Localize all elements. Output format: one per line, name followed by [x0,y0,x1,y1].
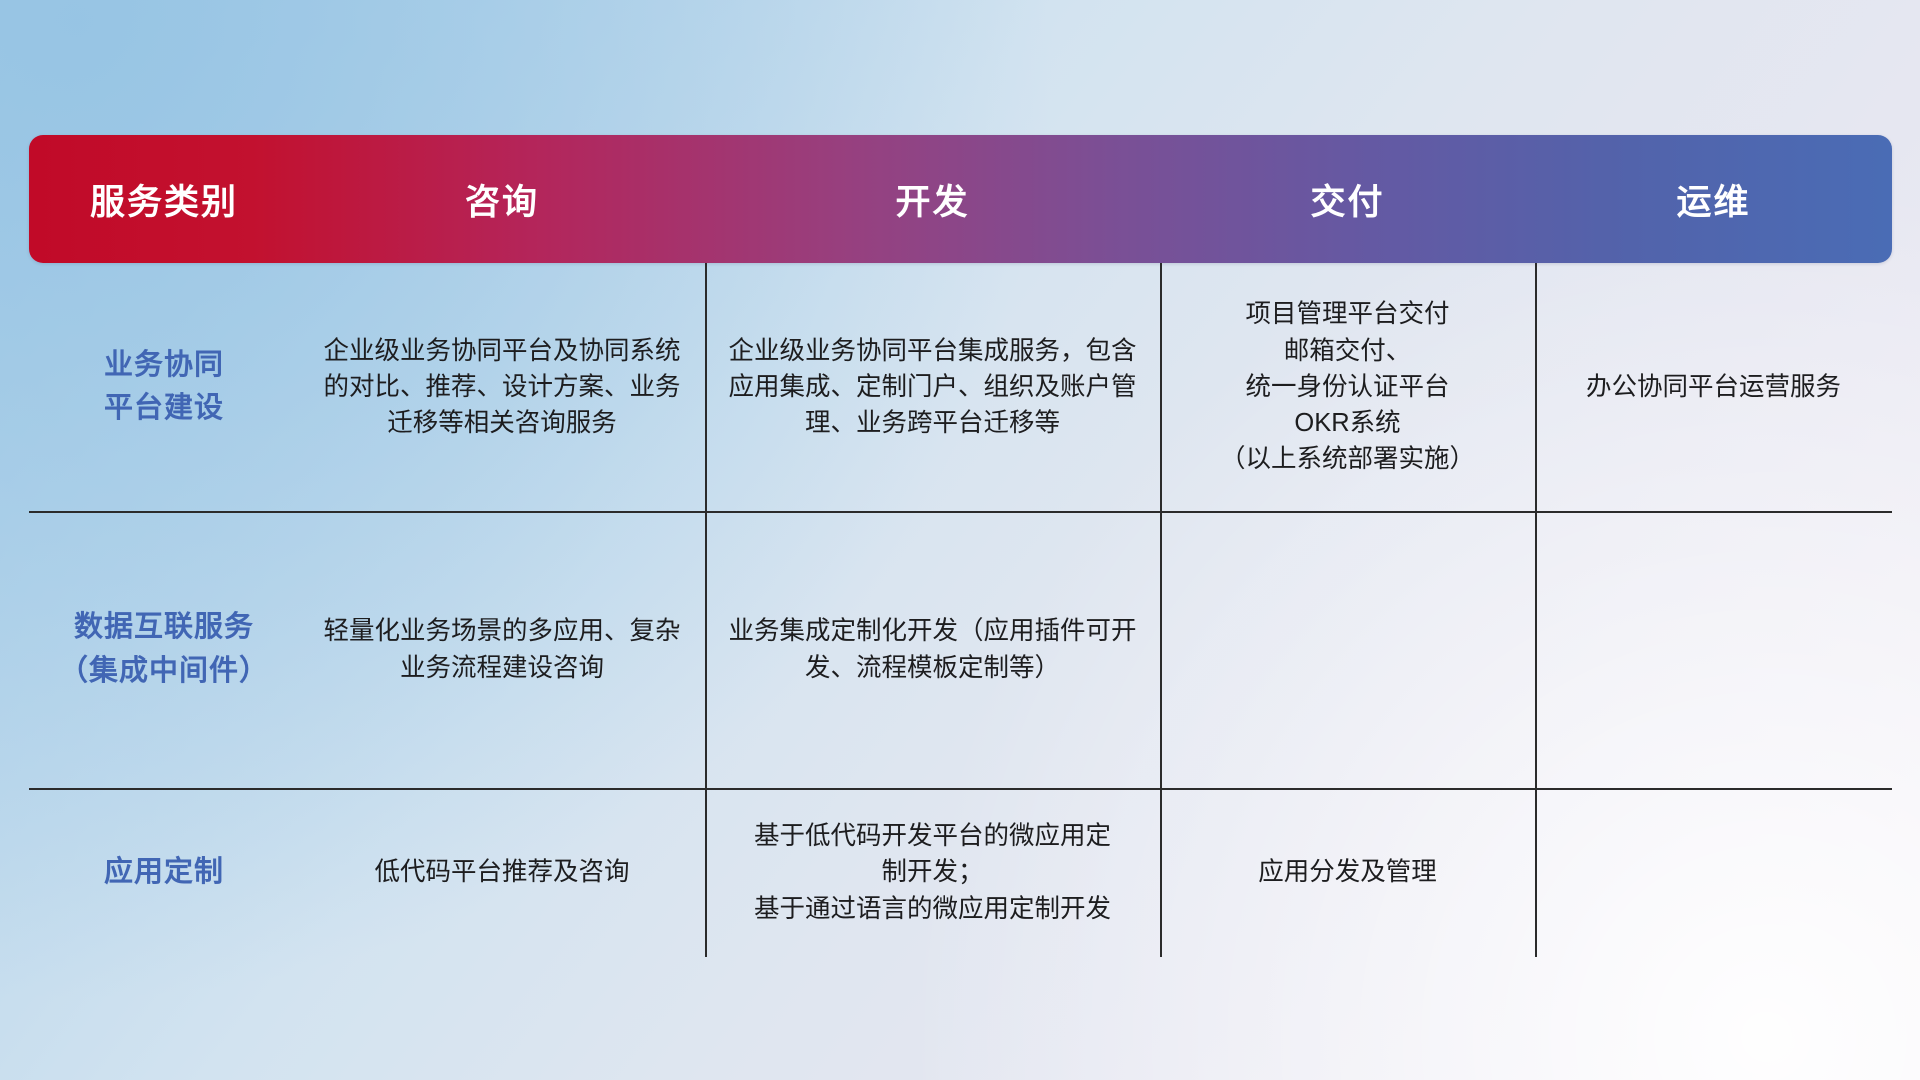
slide-canvas: 服务类别 咨询 开发 交付 运维 业务协同 平台建设 企业级业务协同平台及 [0,0,1920,1080]
cell-operations [1535,788,1892,957]
cell-delivery: 应用分发及管理 [1160,788,1535,957]
table-header-row: 服务类别 咨询 开发 交付 运维 [29,135,1892,263]
column-header-development: 开发 [705,174,1160,225]
table-row: 数据互联服务 （集成中间件） 轻量化业务场景的多应用、复杂业务流程建设咨询 业务… [29,511,1892,788]
cell-delivery-line: 邮箱交付、 [1220,333,1475,369]
cell-development-line: 基于通过语言的微应用定制开发 [754,891,1111,927]
cell-delivery [1160,511,1535,788]
cell-development: 基于低代码开发平台的微应用定 制开发； 基于通过语言的微应用定制开发 [705,788,1160,957]
cell-delivery-line: OKR系统 [1220,405,1475,441]
row-label-data-integration: 数据互联服务 （集成中间件） [29,511,299,788]
cell-development-line: 制开发； [754,854,1111,890]
cell-development: 业务集成定制化开发（应用插件可开发、流程模板定制等） [705,511,1160,788]
table-row: 业务协同 平台建设 企业级业务协同平台及协同系统的对比、推荐、设计方案、业务迁移… [29,263,1892,511]
cell-consulting: 轻量化业务场景的多应用、复杂业务流程建设咨询 [299,511,705,788]
column-header-delivery: 交付 [1160,174,1535,225]
cell-delivery: 项目管理平台交付 邮箱交付、 统一身份认证平台 OKR系统 （以上系统部署实施） [1160,263,1535,511]
cell-delivery-line: （以上系统部署实施） [1220,441,1475,477]
column-header-service-category: 服务类别 [29,174,299,225]
row-label-line: 数据互联服务 [59,606,269,650]
cell-consulting: 企业级业务协同平台及协同系统的对比、推荐、设计方案、业务迁移等相关咨询服务 [299,263,705,511]
row-label-app-customization: 应用定制 [29,788,299,957]
cell-delivery-line: 统一身份认证平台 [1220,369,1475,405]
service-matrix-table: 服务类别 咨询 开发 交付 运维 业务协同 平台建设 企业级业务协同平台及 [29,135,1892,957]
row-label-line: （集成中间件） [59,650,269,694]
cell-consulting: 低代码平台推荐及咨询 [299,788,705,957]
row-label-business-collaboration: 业务协同 平台建设 [29,263,299,511]
column-header-consulting: 咨询 [299,174,705,225]
cell-operations [1535,511,1892,788]
column-header-operations: 运维 [1535,174,1892,225]
cell-operations: 办公协同平台运营服务 [1535,263,1892,511]
row-label-line: 平台建设 [104,387,224,431]
table-row: 应用定制 低代码平台推荐及咨询 基于低代码开发平台的微应用定 制开发； 基于通过… [29,788,1892,957]
table-body: 业务协同 平台建设 企业级业务协同平台及协同系统的对比、推荐、设计方案、业务迁移… [29,263,1892,957]
row-label-line: 应用定制 [104,851,224,895]
cell-development-line: 基于低代码开发平台的微应用定 [754,818,1111,854]
row-label-line: 业务协同 [104,344,224,388]
cell-delivery-line: 项目管理平台交付 [1220,296,1475,332]
cell-development: 企业级业务协同平台集成服务，包含应用集成、定制门户、组织及账户管理、业务跨平台迁… [705,263,1160,511]
